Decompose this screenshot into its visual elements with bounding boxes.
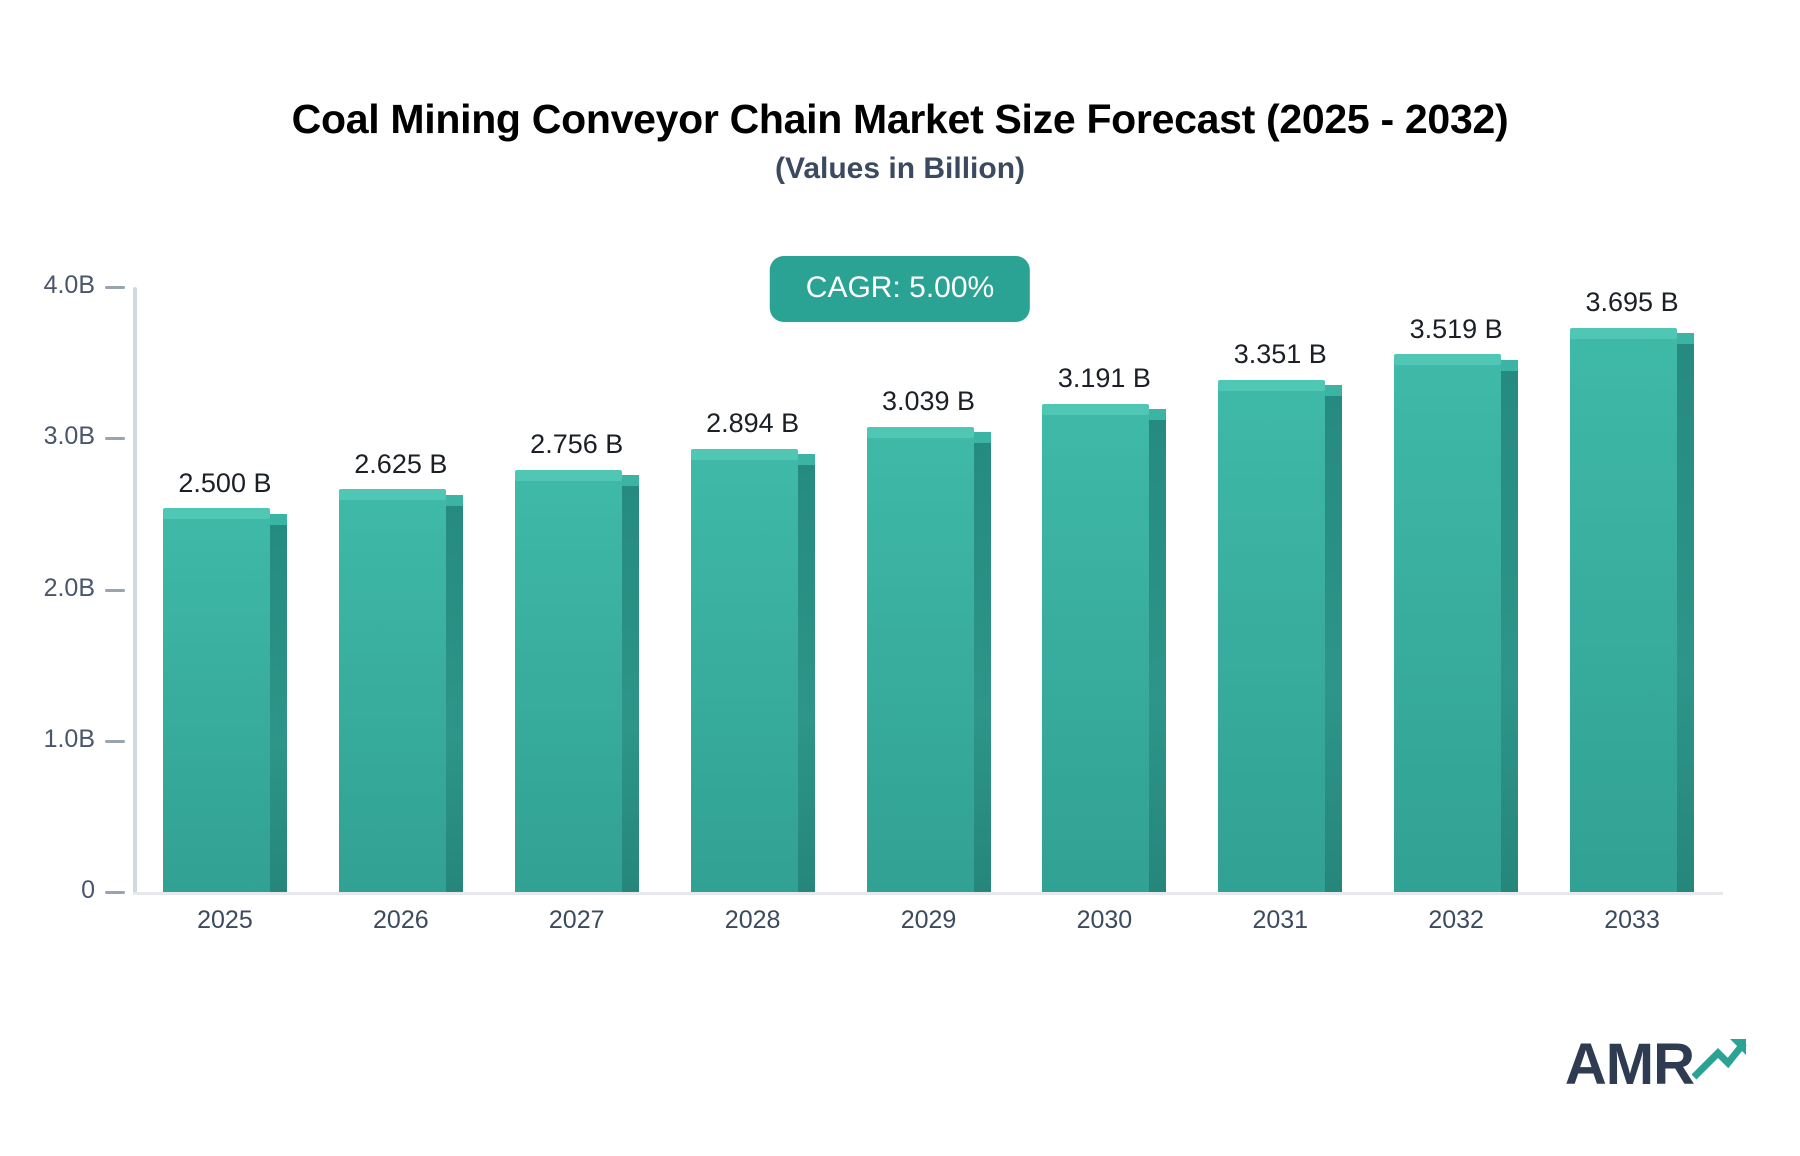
- bar-side-face: [1677, 339, 1694, 892]
- bar-side-face: [974, 438, 991, 892]
- x-axis-tick-label: 2026: [321, 906, 481, 935]
- bar-top-bevel: [798, 454, 815, 465]
- x-axis-tick-label: 2027: [497, 906, 657, 935]
- bar-value-label: 3.039 B: [829, 386, 1029, 417]
- bar: [163, 250, 287, 892]
- bar-top-face: [1394, 354, 1501, 365]
- x-axis-tick-label: 2030: [1024, 906, 1184, 935]
- x-axis-tick-label: 2028: [673, 906, 833, 935]
- growth-arrow-icon: [1692, 1037, 1748, 1086]
- bar-top-bevel: [446, 495, 463, 506]
- bar-top-face: [1570, 328, 1677, 339]
- bar-side-face: [446, 501, 463, 892]
- bar-value-label: 3.191 B: [1004, 363, 1204, 394]
- x-axis-tick-label: 2025: [145, 906, 305, 935]
- chart-canvas: Coal Mining Conveyor Chain Market Size F…: [0, 0, 1800, 1156]
- bar-side-face: [1149, 415, 1166, 892]
- bar-front-face: [1218, 385, 1325, 892]
- x-axis-tick-label: 2031: [1200, 906, 1360, 935]
- bar-side-face: [1501, 366, 1518, 892]
- bar-top-bevel: [974, 432, 991, 443]
- bar-front-face: [163, 514, 270, 892]
- bar: [1394, 96, 1518, 892]
- bar: [339, 231, 463, 892]
- bar-side-face: [622, 481, 639, 892]
- bar-value-label: 3.695 B: [1532, 287, 1732, 318]
- bar-top-bevel: [1501, 360, 1518, 371]
- bar-front-face: [691, 454, 798, 892]
- bars-layer: 2.500 B20252.625 B20262.756 B20272.894 B…: [0, 0, 1800, 1156]
- cagr-badge: CAGR: 5.00%: [770, 256, 1030, 322]
- bar-value-label: 2.625 B: [301, 449, 501, 480]
- bar-top-bevel: [1677, 333, 1694, 344]
- bar-value-label: 2.756 B: [477, 429, 677, 460]
- bar-value-label: 3.519 B: [1356, 314, 1556, 345]
- bar-top-face: [515, 470, 622, 481]
- x-axis-tick-label: 2033: [1552, 906, 1712, 935]
- bar: [515, 211, 639, 892]
- bar: [1218, 121, 1342, 892]
- amr-logo-text: AMR: [1565, 1036, 1694, 1094]
- bar-top-face: [867, 427, 974, 438]
- bar-value-label: 2.894 B: [653, 408, 853, 439]
- bar-top-bevel: [270, 514, 287, 525]
- bar-top-face: [691, 449, 798, 460]
- bar-top-face: [339, 489, 446, 500]
- bar-front-face: [867, 432, 974, 892]
- bar-front-face: [1394, 360, 1501, 892]
- bar-top-face: [1042, 404, 1149, 415]
- bar-value-label: 3.351 B: [1180, 339, 1380, 370]
- bar: [1570, 69, 1694, 892]
- bar-top-bevel: [1149, 409, 1166, 420]
- bar-top-face: [163, 508, 270, 519]
- x-axis-tick-label: 2029: [849, 906, 1009, 935]
- bar: [1042, 145, 1166, 892]
- bar-side-face: [1325, 391, 1342, 892]
- bar-top-bevel: [1325, 385, 1342, 396]
- bar-top-face: [1218, 380, 1325, 391]
- amr-logo: AMR: [1565, 1036, 1748, 1094]
- bar-front-face: [1570, 333, 1677, 892]
- bar-side-face: [270, 520, 287, 892]
- x-axis-tick-label: 2032: [1376, 906, 1536, 935]
- bar-front-face: [339, 495, 446, 892]
- bar-front-face: [1042, 409, 1149, 892]
- bar-top-bevel: [622, 475, 639, 486]
- bar-value-label: 2.500 B: [125, 468, 325, 499]
- bar-side-face: [798, 460, 815, 892]
- bar-front-face: [515, 475, 622, 892]
